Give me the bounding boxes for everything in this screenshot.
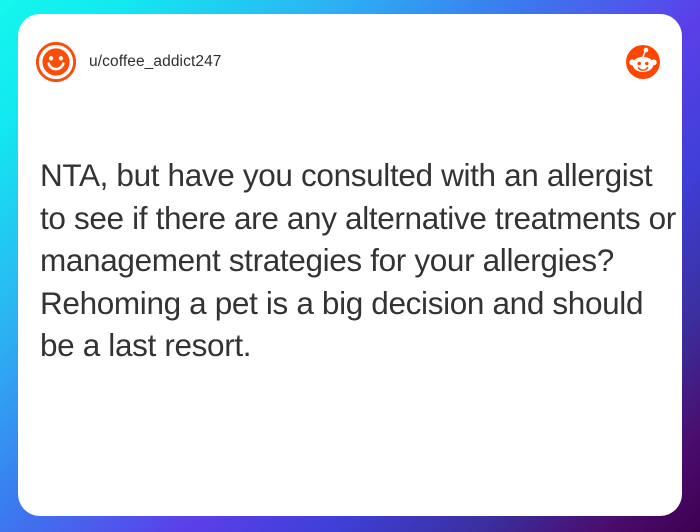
- author-username: u/coffee_addict247: [89, 53, 222, 71]
- reddit-snoo-icon: [626, 45, 660, 79]
- post-author: u/coffee_addict247: [36, 42, 626, 82]
- post-header: u/coffee_addict247: [18, 14, 682, 110]
- post-card: u/coffee_addict247 NTA, but have you con…: [18, 14, 682, 516]
- post-body-text: NTA, but have you consulted with an alle…: [40, 154, 680, 367]
- smiley-face-avatar-icon: [36, 42, 76, 82]
- social-post-canvas: u/coffee_addict247 NTA, but have you con…: [0, 0, 700, 532]
